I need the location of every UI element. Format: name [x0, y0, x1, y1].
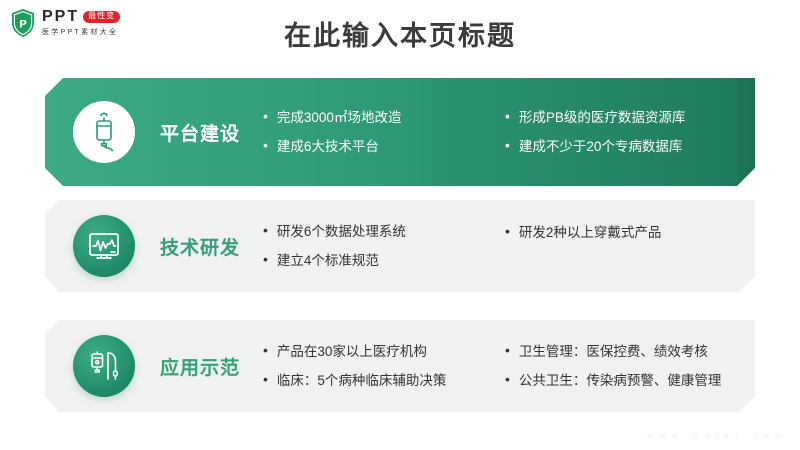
row-platform-construction[interactable]: 平台建设 • 完成3000㎡场地改造 • 建成6大技术平台 • 形成PB级的医疗…: [45, 78, 755, 186]
list-item-label: 形成PB级的医疗数据资源库: [519, 110, 686, 126]
list-item-label: 公共卫生：传染病预警、健康管理: [519, 373, 722, 389]
list-item: • 产品在30家以上医疗机构: [263, 344, 505, 360]
list-item: • 形成PB级的医疗数据资源库: [505, 110, 755, 126]
list-item: • 卫生管理：医保控费、绩效考核: [505, 344, 755, 360]
bullet-dot-icon: •: [263, 223, 268, 237]
bullet-column-right: • 研发2种以上穿戴式产品 •: [505, 225, 755, 268]
list-item-label: 临床：5个病种临床辅助决策: [277, 373, 447, 389]
list-item: • 研发2种以上穿戴式产品: [505, 225, 755, 241]
bullets-application-demo: • 产品在30家以上医疗机构 • 临床：5个病种临床辅助决策 • 卫生管理：医保…: [259, 344, 755, 388]
bullet-dot-icon: •: [263, 138, 268, 152]
row-heading-application-demo: 应用示范: [141, 353, 259, 380]
row-heading-platform-construction: 平台建设: [141, 119, 259, 146]
list-item: • 临床：5个病种临床辅助决策: [263, 373, 505, 389]
bullet-dot-icon: •: [263, 109, 268, 123]
site-watermark: w w w . p p t e r . c o m: [647, 431, 784, 440]
list-item-label: 产品在30家以上医疗机构: [277, 344, 427, 360]
ecg-monitor-icon: [73, 215, 135, 277]
bullet-dot-icon: •: [263, 343, 268, 357]
list-item-label: 建立4个标准规范: [277, 253, 379, 269]
bullet-dot-icon: •: [263, 252, 268, 266]
list-item: • 研发6个数据处理系统: [263, 224, 505, 240]
list-item: • 建成不少于20个专病数据库: [505, 139, 755, 155]
bullet-column-left: • 完成3000㎡场地改造 • 建成6大技术平台: [263, 110, 505, 154]
list-item-label: 研发6个数据处理系统: [277, 224, 406, 240]
list-item-label: 建成不少于20个专病数据库: [519, 139, 683, 155]
list-item: • 完成3000㎡场地改造: [263, 110, 505, 126]
bullet-dot-icon: •: [505, 372, 510, 386]
bullet-dot-icon: •: [505, 109, 510, 123]
row-application-demo[interactable]: 应用示范 • 产品在30家以上医疗机构 • 临床：5个病种临床辅助决策 • 卫生…: [45, 320, 755, 412]
bullet-column-left: • 产品在30家以上医疗机构 • 临床：5个病种临床辅助决策: [263, 344, 505, 388]
bullet-column-left: • 研发6个数据处理系统 • 建立4个标准规范: [263, 224, 505, 268]
list-item: • 建立4个标准规范: [263, 253, 505, 269]
bullet-dot-icon: •: [505, 343, 510, 357]
list-item: • 公共卫生：传染病预警、健康管理: [505, 373, 755, 389]
iv-bag-icon: [73, 101, 135, 163]
bullets-technology-rd: • 研发6个数据处理系统 • 建立4个标准规范 • 研发2种以上穿戴式产品 •: [259, 224, 755, 268]
bullet-dot-icon: •: [505, 224, 510, 238]
row-technology-rd[interactable]: 技术研发 • 研发6个数据处理系统 • 建立4个标准规范 • 研发2种以上穿戴式…: [45, 200, 755, 292]
bullet-column-right: • 形成PB级的医疗数据资源库 • 建成不少于20个专病数据库: [505, 110, 755, 154]
list-item-label: 研发2种以上穿戴式产品: [519, 225, 662, 241]
list-item: • 建成6大技术平台: [263, 139, 505, 155]
list-item-label: 建成6大技术平台: [277, 139, 379, 155]
bullet-dot-icon: •: [263, 372, 268, 386]
list-item-label: 卫生管理：医保控费、绩效考核: [519, 344, 708, 360]
content-rows: 平台建设 • 完成3000㎡场地改造 • 建成6大技术平台 • 形成PB级的医疗…: [0, 0, 800, 450]
bullets-platform-construction: • 完成3000㎡场地改造 • 建成6大技术平台 • 形成PB级的医疗数据资源库…: [259, 110, 755, 154]
bullet-dot-icon: •: [505, 138, 510, 152]
list-item-label: 完成3000㎡场地改造: [277, 110, 402, 126]
iv-stand-icon: [73, 335, 135, 397]
bullet-column-right: • 卫生管理：医保控费、绩效考核 • 公共卫生：传染病预警、健康管理: [505, 344, 755, 388]
row-heading-technology-rd: 技术研发: [141, 233, 259, 260]
